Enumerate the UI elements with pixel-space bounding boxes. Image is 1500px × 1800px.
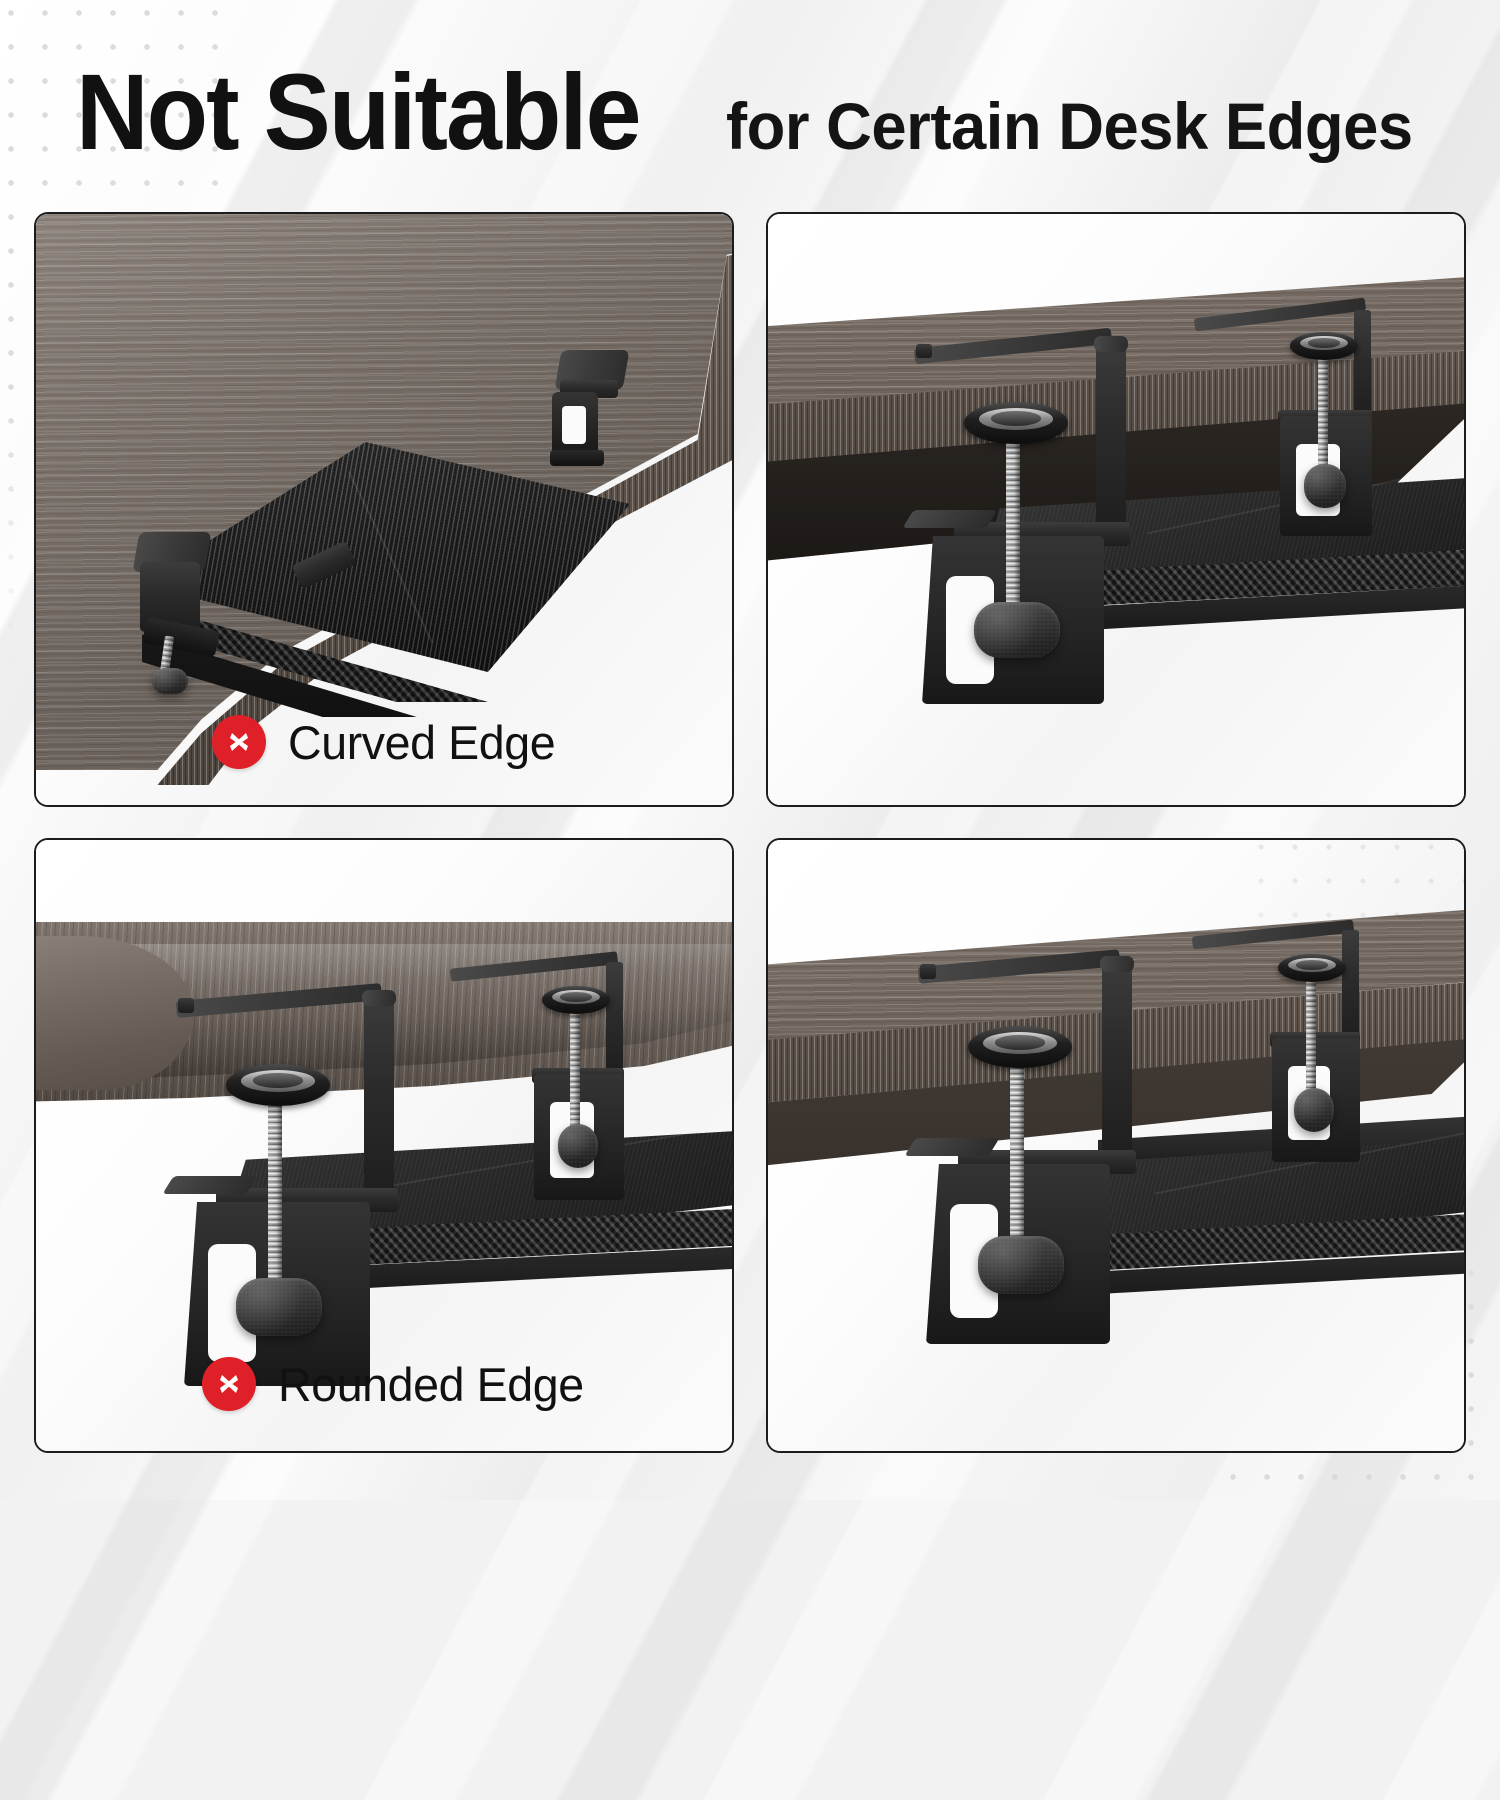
clamp-front xyxy=(900,310,1230,710)
title-subtitle: for Certain Desk Edges xyxy=(726,93,1413,159)
label-rounded-edge: Rounded Edge xyxy=(202,1357,587,1411)
panel-rounded-edge[interactable]: Rounded Edge xyxy=(34,838,734,1453)
label-text: Rounded Edge xyxy=(278,1361,584,1408)
panel-crossbeam-edge[interactable]: Edge with Crossbeam xyxy=(766,838,1466,1453)
x-circle-icon xyxy=(212,715,266,769)
label-text: Curved Edge xyxy=(288,719,555,766)
clamp-front xyxy=(166,972,506,1392)
header: Not Suitable for Certain Desk Edges xyxy=(0,0,1500,205)
panel-crossbeam-edge-image xyxy=(768,840,1464,1451)
clamp-front xyxy=(908,936,1248,1356)
panel-curved-edge[interactable]: Curved Edge xyxy=(34,212,734,807)
label-curved-edge: Curved Edge xyxy=(212,715,558,769)
title-main: Not Suitable xyxy=(76,58,640,166)
panel-beveled-edge-image xyxy=(768,214,1464,805)
clamp-left xyxy=(126,532,256,692)
x-circle-icon xyxy=(202,1357,256,1411)
clamp-right xyxy=(538,350,658,490)
panel-beveled-edge[interactable]: Beveled Edge xyxy=(766,212,1466,807)
page-title: Not Suitable for Certain Desk Edges xyxy=(76,58,1441,166)
